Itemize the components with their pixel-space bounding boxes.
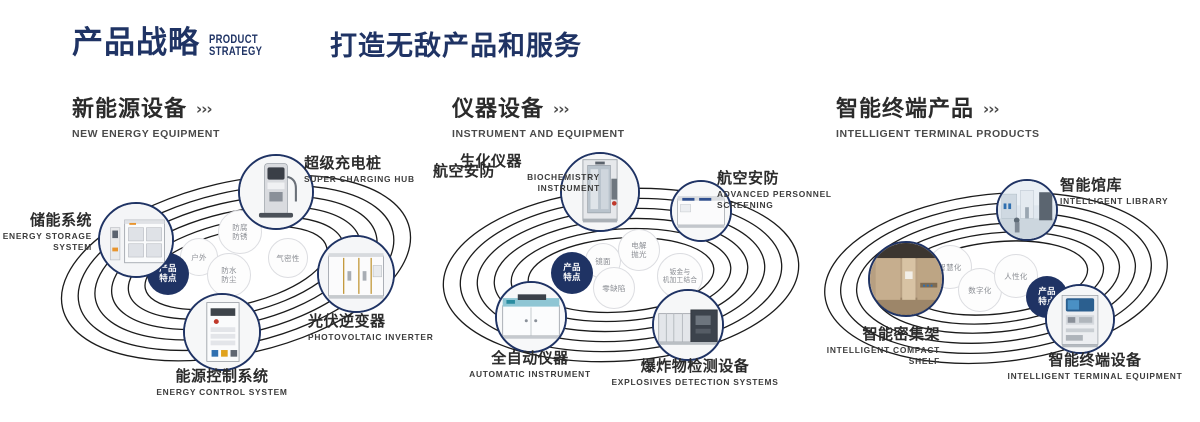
compact-shelf-thumb [870,243,942,315]
node-energy-storage-system[interactable] [98,202,174,278]
section-heading-new-energy: 新能源设备››› NEW ENERGY EQUIPMENT [72,96,220,140]
page-slogan: 打造无敌产品和服务 [330,33,582,60]
caption-intelligent-compact-shelf: 智能密集架 INTELLIGENT COMPACT SHELF [740,326,940,366]
automatic-instrument-thumb [497,283,565,351]
section-title-cn: 仪器设备››› [452,96,625,123]
caption-intelligent-library: 智能馆库 INTELLIGENT LIBRARY [1060,177,1200,207]
page-title-en-line2: STRATEGY [209,47,262,59]
explosives-detection-thumb [654,291,722,359]
node-super-charging-hub[interactable] [238,154,314,230]
page-title-en-line1: PRODUCT [209,35,262,47]
energy-storage-thumb [100,204,172,276]
caption-biochemistry-instrument: 生化仪器 BIOCHEMISTRY INSTRUMENT [460,153,600,193]
charging-hub-thumb [240,156,312,228]
infographic-page: 产品战略 PRODUCT STRATEGY 打造无敌产品和服务 新能源设备›››… [0,0,1200,422]
section-title-en: NEW ENERGY EQUIPMENT [72,128,220,140]
page-title-en: PRODUCT STRATEGY [209,35,262,58]
node-automatic-instrument[interactable] [495,281,567,353]
photovoltaic-inverter-thumb [319,237,393,311]
feature-bubble: 电解 抛光 [618,229,660,271]
node-energy-control-system[interactable] [183,293,261,371]
energy-control-thumb [185,295,259,369]
caption-energy-control-system: 能源控制系统 ENERGY CONTROL SYSTEM [92,368,352,398]
intelligent-library-thumb [998,181,1056,239]
cluster-intelligent-terminal: 智慧化 数字化 人性化 产品 特点 智能馆库 INTELLIGENT LIBRA… [810,150,1200,400]
section-title-cn: 智能终端产品››› [836,96,1040,123]
cluster-new-energy: 户外 防腐 防锈 气密性 防水 防尘 产品 特点 储能系统 ENERGY S [40,150,430,400]
page-title-cn: 产品战略 [72,28,200,59]
section-heading-instrument: 仪器设备››› INSTRUMENT AND EQUIPMENT [452,96,625,140]
feature-bubble: 防水 防尘 [207,253,251,297]
chevron-right-icon: ››› [553,96,569,122]
feature-bubble: 零缺陷 [593,267,635,309]
chevron-right-icon: ››› [983,96,999,122]
section-title-en: INSTRUMENT AND EQUIPMENT [452,128,625,140]
node-intelligent-terminal-equipment[interactable] [1045,284,1115,354]
chevron-right-icon: ››› [196,96,212,122]
caption-energy-storage-system: 储能系统 ENERGY STORAGE SYSTEM [0,212,92,252]
section-title-en: INTELLIGENT TERMINAL PRODUCTS [836,128,1040,140]
section-heading-intelligent-terminal: 智能终端产品››› INTELLIGENT TERMINAL PRODUCTS [836,96,1040,140]
feature-bubble: 气密性 [268,238,308,278]
node-intelligent-compact-shelf[interactable] [868,241,944,317]
node-photovoltaic-inverter[interactable] [317,235,395,313]
node-intelligent-library[interactable] [996,179,1058,241]
page-title: 产品战略 PRODUCT STRATEGY [72,28,274,59]
node-explosives-detection[interactable] [652,289,724,361]
terminal-equipment-thumb [1047,286,1113,352]
caption-intelligent-terminal-equipment: 智能终端设备 INTELLIGENT TERMINAL EQUIPMENT [990,352,1200,382]
section-title-cn: 新能源设备››› [72,96,220,123]
